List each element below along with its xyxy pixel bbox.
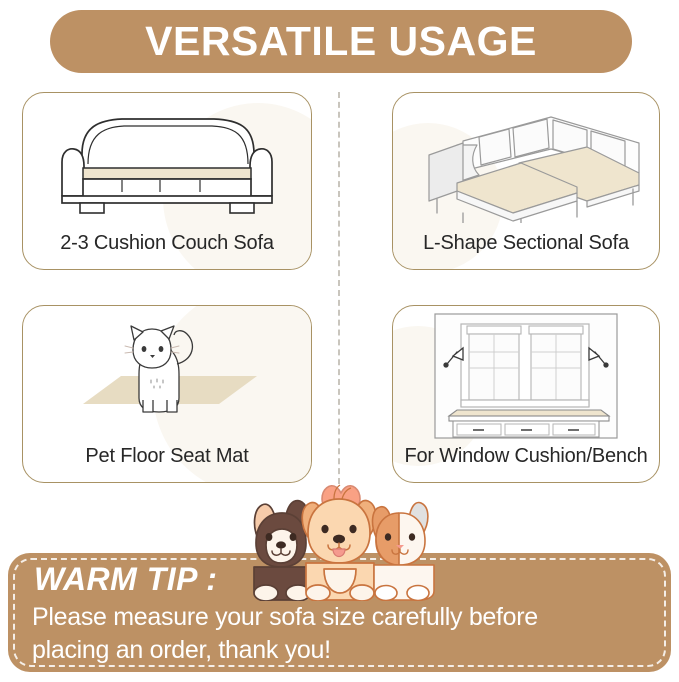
l-shape-sectional-sofa-icon — [393, 101, 659, 223]
usage-card-pet-floor-mat: Pet Floor Seat Mat — [22, 305, 312, 483]
usage-card-label: 2-3 Cushion Couch Sofa — [23, 232, 311, 255]
usage-card-couch-sofa: 2-3 Cushion Couch Sofa — [22, 92, 312, 270]
warm-tip-body: Please measure your sofa size carefully … — [32, 601, 652, 667]
column-divider — [338, 92, 340, 484]
usage-card-window-bench: For Window Cushion/Bench — [392, 305, 660, 483]
warm-tip-heading: WARM TIP : — [34, 561, 217, 598]
usage-card-label: L-Shape Sectional Sofa — [393, 232, 659, 255]
cat-on-mat-icon — [23, 322, 311, 434]
pets-illustration — [236, 481, 446, 601]
usage-card-label: For Window Cushion/Bench — [393, 445, 659, 468]
usage-card-l-shape-sofa: L-Shape Sectional Sofa — [392, 92, 660, 270]
warm-tip-line-1: Please measure your sofa size carefully … — [32, 601, 652, 634]
warm-tip-line-2: placing an order, thank you! — [32, 634, 652, 667]
window-bench-icon — [393, 312, 659, 440]
header-banner: VERSATILE USAGE — [50, 10, 632, 73]
couch-sofa-icon — [23, 107, 311, 219]
usage-card-label: Pet Floor Seat Mat — [23, 445, 311, 468]
page-title: VERSATILE USAGE — [145, 21, 537, 62]
infographic-page: VERSATILE USAGE — [0, 0, 679, 682]
